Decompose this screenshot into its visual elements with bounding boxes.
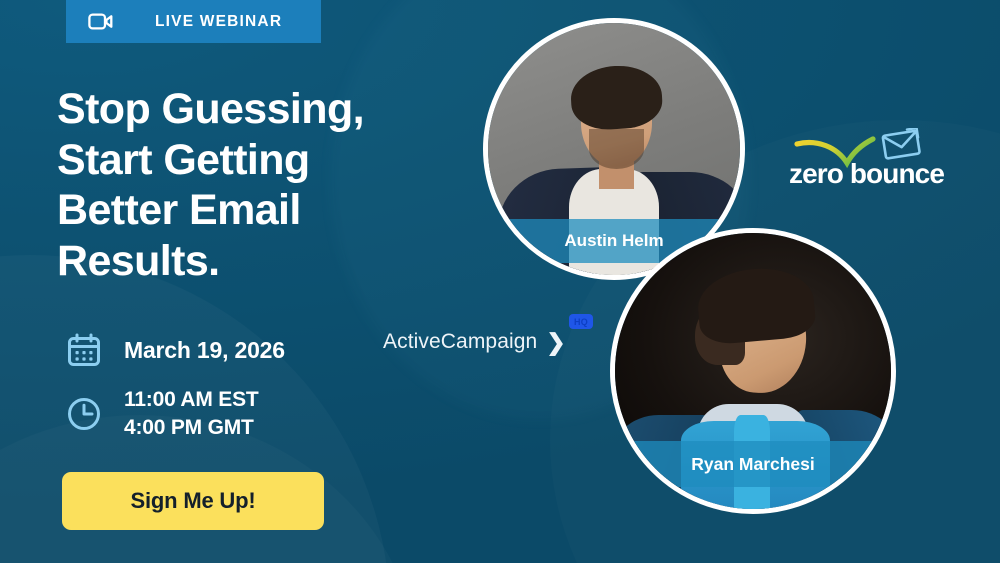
sign-me-up-button[interactable]: Sign Me Up! (62, 472, 324, 530)
video-camera-icon (88, 12, 113, 31)
webinar-promo-banner: LIVE WEBINAR Stop Guessing, Start Gettin… (0, 0, 1000, 563)
page-title: Stop Guessing, Start Getting Better Emai… (57, 84, 487, 286)
event-date-row: March 19, 2026 (62, 332, 285, 368)
event-time-est: 11:00 AM EST (124, 388, 259, 411)
live-webinar-label: LIVE WEBINAR (155, 13, 282, 31)
headline-line-1: Stop Guessing, (57, 85, 364, 133)
speaker-avatar-ryan-marchesi: Ryan Marchesi (610, 228, 896, 514)
zerobounce-wordmark: zero bounce (789, 158, 944, 190)
activecampaign-logo: ActiveCampaign ❯ (383, 330, 566, 354)
chevron-right-icon: ❯ (546, 331, 565, 354)
event-times: 11:00 AM EST 4:00 PM GMT (124, 386, 259, 441)
event-date: March 19, 2026 (124, 337, 285, 364)
headline-line-4: Results. (57, 237, 219, 285)
headline-line-2: Start Getting (57, 136, 310, 184)
event-time-gmt: 4:00 PM GMT (124, 416, 254, 439)
live-webinar-badge: LIVE WEBINAR (66, 0, 321, 43)
event-details: March 19, 2026 11:00 AM EST 4:00 PM GMT (62, 332, 285, 441)
event-time-row: 11:00 AM EST 4:00 PM GMT (62, 386, 285, 441)
calendar-icon (62, 332, 106, 368)
activecampaign-hq-badge: HQ (569, 314, 593, 329)
clock-icon (62, 396, 106, 432)
zerobounce-logo: zero bounce (789, 128, 944, 190)
activecampaign-wordmark: ActiveCampaign (383, 330, 537, 354)
speaker-name-ryan-marchesi: Ryan Marchesi (615, 441, 891, 487)
headline-line-3: Better Email (57, 186, 301, 234)
